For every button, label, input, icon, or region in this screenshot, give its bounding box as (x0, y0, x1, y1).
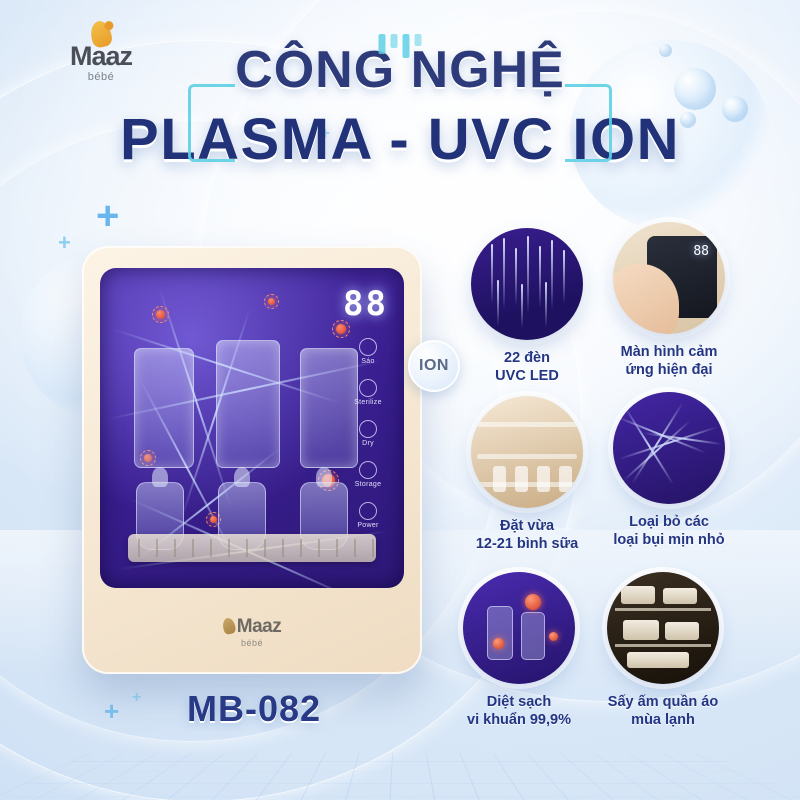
feature-capacity[interactable]: Đặt vừa12-21 bình sữa (452, 396, 602, 553)
feature-warm-clothes[interactable]: Sấy ấm quần áomùa lạnh (588, 572, 738, 729)
feature-dust-removal[interactable]: Loại bỏ cácloại bụi mịn nhỏ (594, 392, 744, 549)
feature-thumbnail (463, 572, 575, 684)
sterilizer-chamber: 88 Sáo Sterilize Dry (100, 268, 404, 588)
title-bracket-right (565, 84, 612, 162)
feature-thumbnail (471, 228, 583, 340)
feature-uvc-led[interactable]: 22 đènUVC LED (452, 228, 602, 385)
control-button-power[interactable]: Power (357, 502, 378, 529)
uv-lamp-icon (471, 228, 583, 340)
title-line-2: PLASMA - UVC ION (0, 106, 800, 173)
feature-label: Diệt sạchvi khuẩn 99,9% (444, 693, 594, 729)
digital-display: 88 (343, 284, 388, 324)
sterilizer-body: 88 Sáo Sterilize Dry (82, 246, 422, 674)
sparkle-plus-icon: + (58, 232, 71, 254)
control-label: Power (357, 522, 378, 529)
control-icon (359, 338, 377, 356)
product-model: MB-082 (104, 688, 404, 730)
feature-thumbnail (607, 572, 719, 684)
sparkle-plus-icon: + (96, 196, 119, 236)
bird-icon (221, 617, 236, 635)
feature-label: Màn hình cảmứng hiện đại (594, 343, 744, 379)
feature-label: Sấy ấm quần áomùa lạnh (588, 693, 738, 729)
feature-thumbnail (613, 392, 725, 504)
control-button-sterilize[interactable]: Sterilize (354, 379, 382, 406)
control-panel: Sáo Sterilize Dry Storage (342, 338, 394, 529)
touch-panel-icon: 88 (613, 222, 725, 334)
control-label: Storage (355, 481, 382, 488)
device-brand-name: Maaz (82, 616, 422, 638)
shelf-bottles-icon (471, 396, 583, 508)
feature-label: Loại bỏ cácloại bụi mịn nhỏ (594, 513, 744, 549)
poster-canvas: + + + + + Maaz bébé CÔNG NGHỆ PLASMA - U… (0, 0, 800, 800)
feature-thumbnail (471, 396, 583, 508)
page-title: CÔNG NGHỆ PLASMA - UVC ION (0, 40, 800, 173)
feature-sterilize[interactable]: Diệt sạchvi khuẩn 99,9% (444, 572, 594, 729)
title-decor-bars (379, 34, 422, 58)
control-label: Sterilize (354, 399, 382, 406)
product-image: 88 Sáo Sterilize Dry (82, 246, 422, 674)
feature-label: Đặt vừa12-21 bình sữa (452, 517, 602, 553)
control-label: Dry (362, 440, 374, 447)
control-icon (359, 379, 377, 397)
control-icon (359, 461, 377, 479)
control-button-storage[interactable]: Storage (355, 461, 382, 488)
chamber-rack (128, 534, 376, 562)
control-label: Sáo (361, 358, 374, 365)
power-icon (359, 502, 377, 520)
folded-clothes-icon (607, 572, 719, 684)
control-button-sao[interactable]: Sáo (359, 338, 377, 365)
uv-rays-icon (613, 392, 725, 504)
germ-kill-icon (463, 572, 575, 684)
title-bracket-left (188, 84, 235, 162)
feature-label: 22 đènUVC LED (452, 349, 602, 385)
device-brand: Maaz bébé (82, 616, 422, 648)
control-icon (359, 420, 377, 438)
device-brand-sub: bébé (82, 638, 422, 648)
control-button-dry[interactable]: Dry (359, 420, 377, 447)
feature-thumbnail: 88 (613, 222, 725, 334)
feature-touch-screen[interactable]: 88 Màn hình cảmứng hiện đại (594, 222, 744, 379)
